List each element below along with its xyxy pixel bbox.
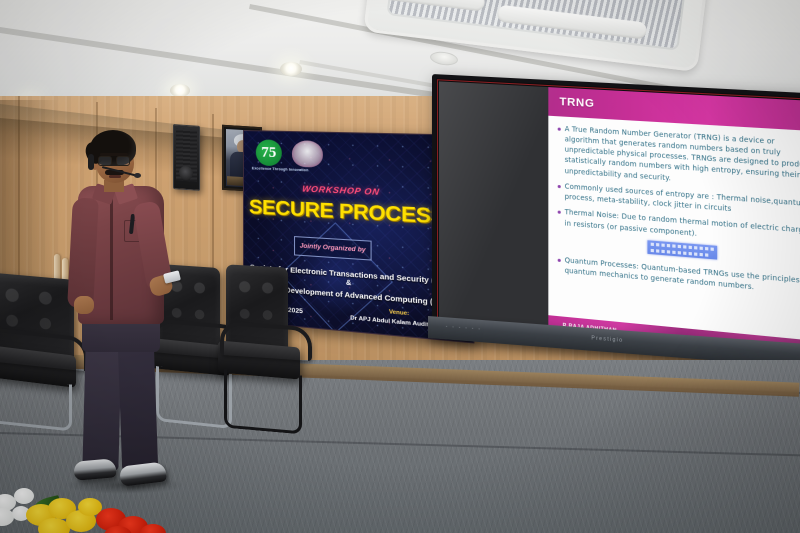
bullet-dot-icon	[557, 185, 560, 188]
shirt-placket	[110, 192, 113, 320]
sets-logo	[292, 140, 323, 168]
presenter-mouth	[109, 175, 121, 178]
display-brand-label: Prestigio	[591, 335, 623, 344]
visitor-chair[interactable]	[222, 266, 347, 451]
chair-armrest	[220, 321, 312, 361]
presentation-slide: TRNG A True Random Number Generator (TRN…	[548, 87, 800, 362]
flower-white	[14, 488, 34, 504]
presenter-leg	[118, 343, 158, 470]
presenter-shoe	[73, 458, 116, 481]
presenter-hand	[74, 296, 94, 314]
flower-red	[140, 524, 166, 533]
presenter-leg	[82, 344, 121, 471]
bullet-dot-icon	[557, 211, 560, 214]
headset-band-icon	[88, 154, 94, 170]
floral-arrangement	[0, 484, 175, 533]
smoke-detector-icon	[429, 50, 459, 67]
slide-pillarbox	[439, 81, 548, 334]
bullet-dot-icon	[557, 258, 560, 261]
azadi-75-logo: 75	[256, 139, 282, 166]
microphone-tip-icon	[134, 173, 141, 178]
chair-leg	[224, 369, 302, 435]
highlighted-text-block	[648, 240, 718, 259]
eyeglasses-icon	[98, 156, 130, 164]
presenter-remote[interactable]	[163, 270, 181, 284]
slide-title: TRNG	[548, 95, 595, 110]
ceiling-downlight	[280, 62, 302, 76]
bullet-dot-icon	[557, 127, 560, 130]
presenter	[58, 128, 190, 488]
display-port-marks: • • • • • •	[446, 323, 482, 331]
slide-body: A True Random Number Generator (TRNG) is…	[548, 116, 800, 342]
presentation-room-photo: 75 Excellence Through Innovation WORKSHO…	[0, 0, 800, 533]
